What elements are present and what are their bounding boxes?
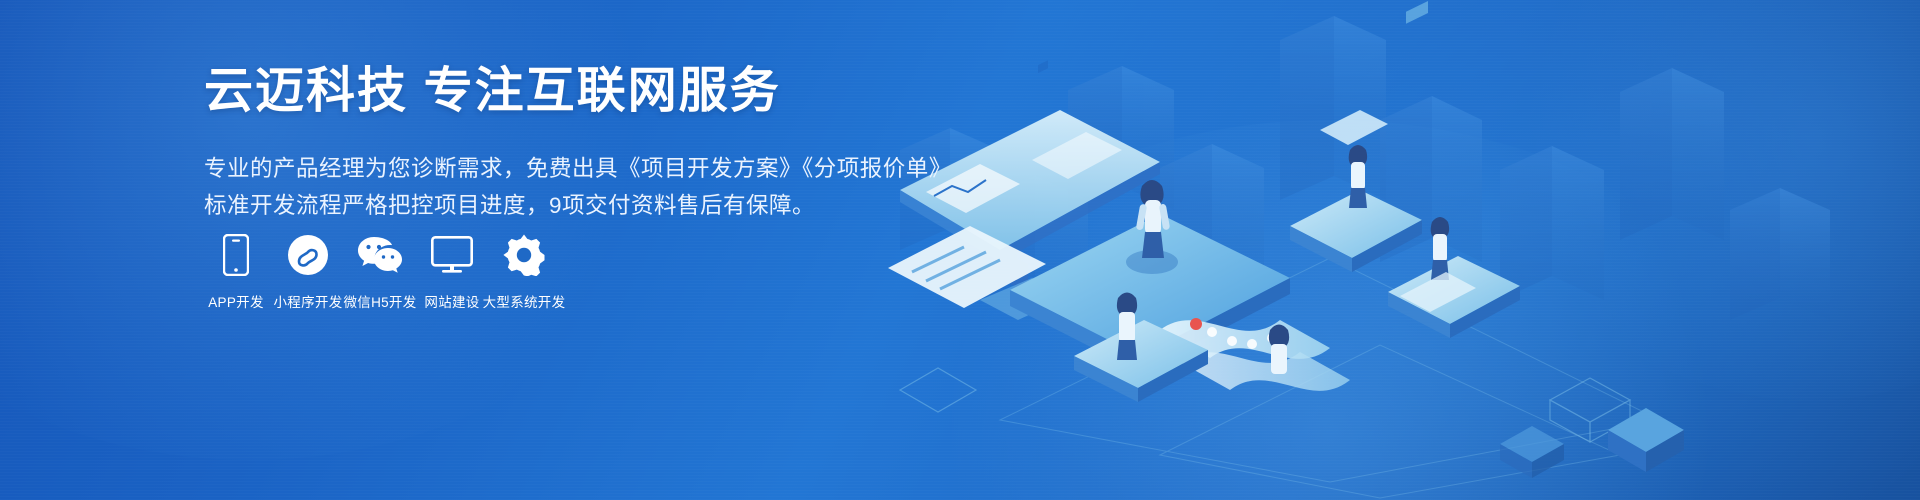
page-title: 云迈科技 专注互联网服务 xyxy=(204,62,924,122)
service-item-large-system[interactable]: 大型系统开发 xyxy=(488,233,560,311)
service-item-mini-program[interactable]: 小程序开发 xyxy=(272,233,344,311)
banner-content: 云迈科技 专注互联网服务 专业的产品经理为您诊断需求，免费出具《项目开发方案》《… xyxy=(204,62,924,223)
subtitle-line-1: 专业的产品经理为您诊断需求，免费出具《项目开发方案》《分项报价单》 xyxy=(204,152,924,186)
subtitle-line-2: 标准开发流程严格把控项目进度，9项交付资料售后有保障。 xyxy=(204,189,924,223)
service-list: APP开发 小程序开发 微信 xyxy=(200,233,560,311)
background-glow-center xyxy=(880,120,1780,500)
service-label: 网站建设 xyxy=(424,291,479,311)
service-label: 微信H5开发 xyxy=(343,291,416,311)
service-item-app[interactable]: APP开发 xyxy=(200,233,272,311)
monitor-icon xyxy=(431,233,473,277)
service-label: 小程序开发 xyxy=(274,291,343,311)
hero-banner: 云迈科技 专注互联网服务 专业的产品经理为您诊断需求，免费出具《项目开发方案》《… xyxy=(0,0,1920,500)
gear-icon xyxy=(503,233,545,277)
service-item-wechat-h5[interactable]: 微信H5开发 xyxy=(344,233,416,311)
service-label: 大型系统开发 xyxy=(483,291,566,311)
mobile-phone-icon xyxy=(223,233,249,277)
isometric-illustration xyxy=(860,0,1920,500)
mini-program-icon xyxy=(287,233,329,277)
background-glow-right xyxy=(1500,0,1920,400)
wechat-icon xyxy=(357,233,403,277)
service-item-website[interactable]: 网站建设 xyxy=(416,233,488,311)
service-label: APP开发 xyxy=(208,291,264,311)
